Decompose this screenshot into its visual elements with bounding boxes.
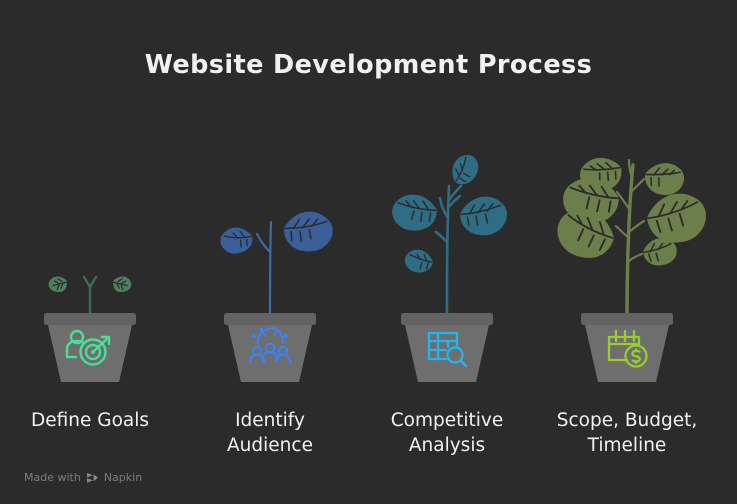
leaf (278, 203, 337, 259)
leaf (216, 221, 256, 260)
stage-label-line: Analysis (347, 433, 547, 458)
stage-label-line: Audience (170, 433, 370, 458)
plant-pot (224, 313, 316, 382)
stage-label-line: Competitive (347, 408, 547, 433)
infographic-canvas: Website Development Process (0, 0, 737, 504)
plant-pot (44, 313, 136, 382)
leaf (643, 187, 710, 248)
stage-identify-audience[interactable]: Identify Audience (180, 0, 360, 470)
stage-label-line: Timeline (527, 433, 727, 458)
stage-label-line: Scope, Budget, (527, 408, 727, 433)
stage-illustration-sprout (0, 0, 180, 400)
plant-stem (257, 222, 271, 315)
stage-illustration-mature-plant (537, 0, 717, 400)
stage-scope-budget-timeline[interactable]: Scope, Budget, Timeline (537, 0, 717, 470)
leaf (47, 274, 70, 295)
watermark-brand: Napkin (104, 471, 142, 484)
plant-stem (84, 277, 96, 318)
leaf (388, 187, 442, 237)
stage-label: Identify Audience (170, 408, 370, 458)
plant-stem (627, 165, 633, 315)
plant-pot (581, 313, 673, 382)
leaf (403, 247, 435, 276)
napkin-chevron-logo-icon (86, 472, 99, 484)
leaf (456, 190, 512, 242)
plant-stem (436, 186, 461, 315)
leaf (445, 150, 485, 189)
stage-label-line: Define Goals (0, 408, 190, 433)
leaf (110, 274, 133, 295)
watermark-text: Made with (24, 471, 81, 484)
stage-label: Scope, Budget, Timeline (527, 408, 727, 458)
stage-label: Define Goals (0, 408, 190, 433)
watermark[interactable]: Made with Napkin (24, 471, 142, 484)
stage-label: Competitive Analysis (347, 408, 547, 458)
stage-competitive-analysis[interactable]: Competitive Analysis (357, 0, 537, 470)
stage-define-goals[interactable]: Define Goals (0, 0, 180, 470)
stage-label-line: Identify (170, 408, 370, 433)
stage-illustration-young-plant (357, 0, 537, 400)
stage-illustration-seedling (180, 0, 360, 400)
